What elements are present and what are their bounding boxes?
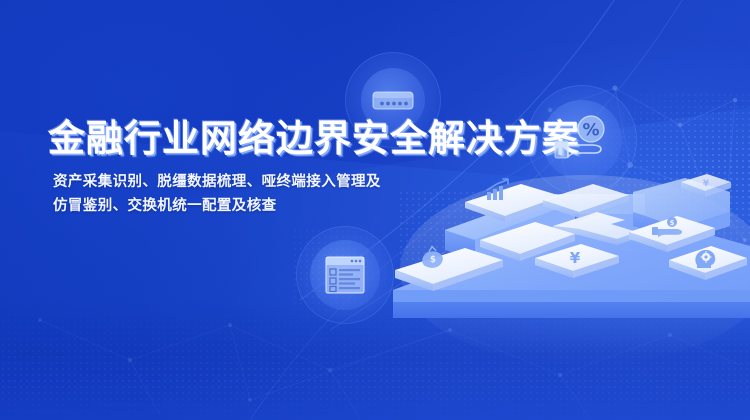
subtitle-line-2: 仿冒鉴别、交换机统一配置及核查 — [53, 195, 518, 218]
headline-block: 金融行业网络边界安全解决方案 资产采集识别、脱缰数据梳理、哑终端接入管理及 仿冒… — [48, 118, 518, 218]
svg-text:%: % — [582, 121, 599, 141]
svg-text:$: $ — [670, 219, 675, 227]
svg-text:$: $ — [430, 255, 436, 265]
finance-network-security-banner: % — [0, 0, 750, 420]
page-subtitle: 资产采集识别、脱缰数据梳理、哑终端接入管理及 仿冒鉴别、交换机统一配置及核查 — [53, 171, 518, 218]
document-checklist-icon — [324, 255, 366, 295]
subtitle-line-1: 资产采集识别、脱缰数据梳理、哑终端接入管理及 — [53, 171, 518, 194]
page-title: 金融行业网络边界安全解决方案 — [48, 118, 518, 159]
yen-symbol-icon: ¥ — [570, 249, 581, 267]
network-switch-icon — [370, 83, 416, 117]
hand-percent-icon: % — [551, 114, 613, 166]
yen-symbol-icon: ¥ — [703, 179, 710, 189]
document-list-badge — [296, 226, 394, 324]
